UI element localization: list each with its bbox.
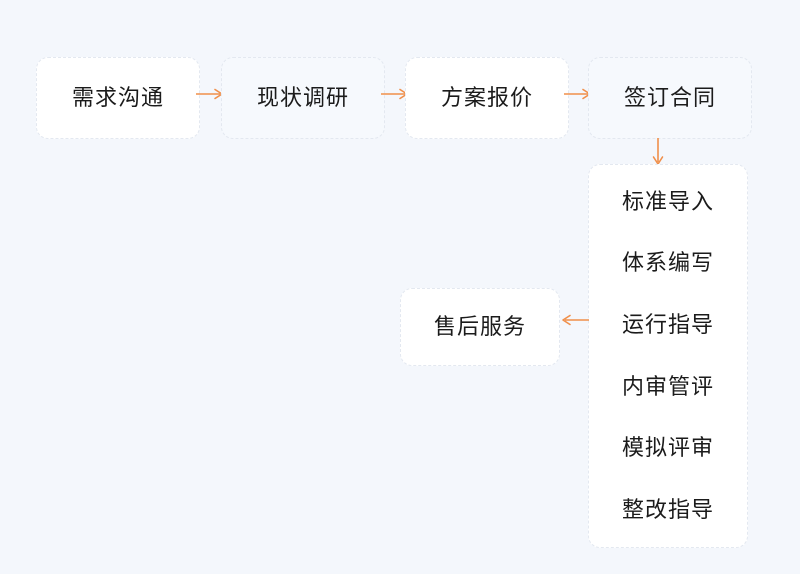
flow-node-implementation-group[interactable]: 标准导入 体系编写 运行指导 内审管评 模拟评审 整改指导: [588, 164, 748, 548]
implementation-item-standard-import[interactable]: 标准导入: [622, 191, 714, 213]
flow-node-label: 售后服务: [434, 316, 526, 338]
flow-node-label: 方案报价: [441, 87, 533, 109]
flow-node-label: 现状调研: [257, 87, 349, 109]
flow-node-after-sales-service[interactable]: 售后服务: [400, 288, 560, 366]
flow-node-proposal-quotation[interactable]: 方案报价: [405, 57, 569, 139]
flow-node-label: 需求沟通: [72, 87, 164, 109]
flow-node-label: 签订合同: [624, 87, 716, 109]
implementation-item-operation-guidance[interactable]: 运行指导: [622, 314, 714, 336]
flowchart-canvas: 需求沟通 现状调研 方案报价 签订合同 标准导入: [0, 0, 800, 574]
implementation-item-rectification-guidance[interactable]: 整改指导: [622, 499, 714, 521]
implementation-item-mock-review[interactable]: 模拟评审: [622, 437, 714, 459]
connector-arrow-left: [561, 314, 591, 326]
flow-node-sign-contract[interactable]: 签订合同: [588, 57, 752, 139]
implementation-item-internal-audit-review[interactable]: 内审管评: [622, 376, 714, 398]
implementation-item-system-writing[interactable]: 体系编写: [622, 252, 714, 274]
flow-node-status-research[interactable]: 现状调研: [221, 57, 385, 139]
flow-node-requirement-communication[interactable]: 需求沟通: [36, 57, 200, 139]
